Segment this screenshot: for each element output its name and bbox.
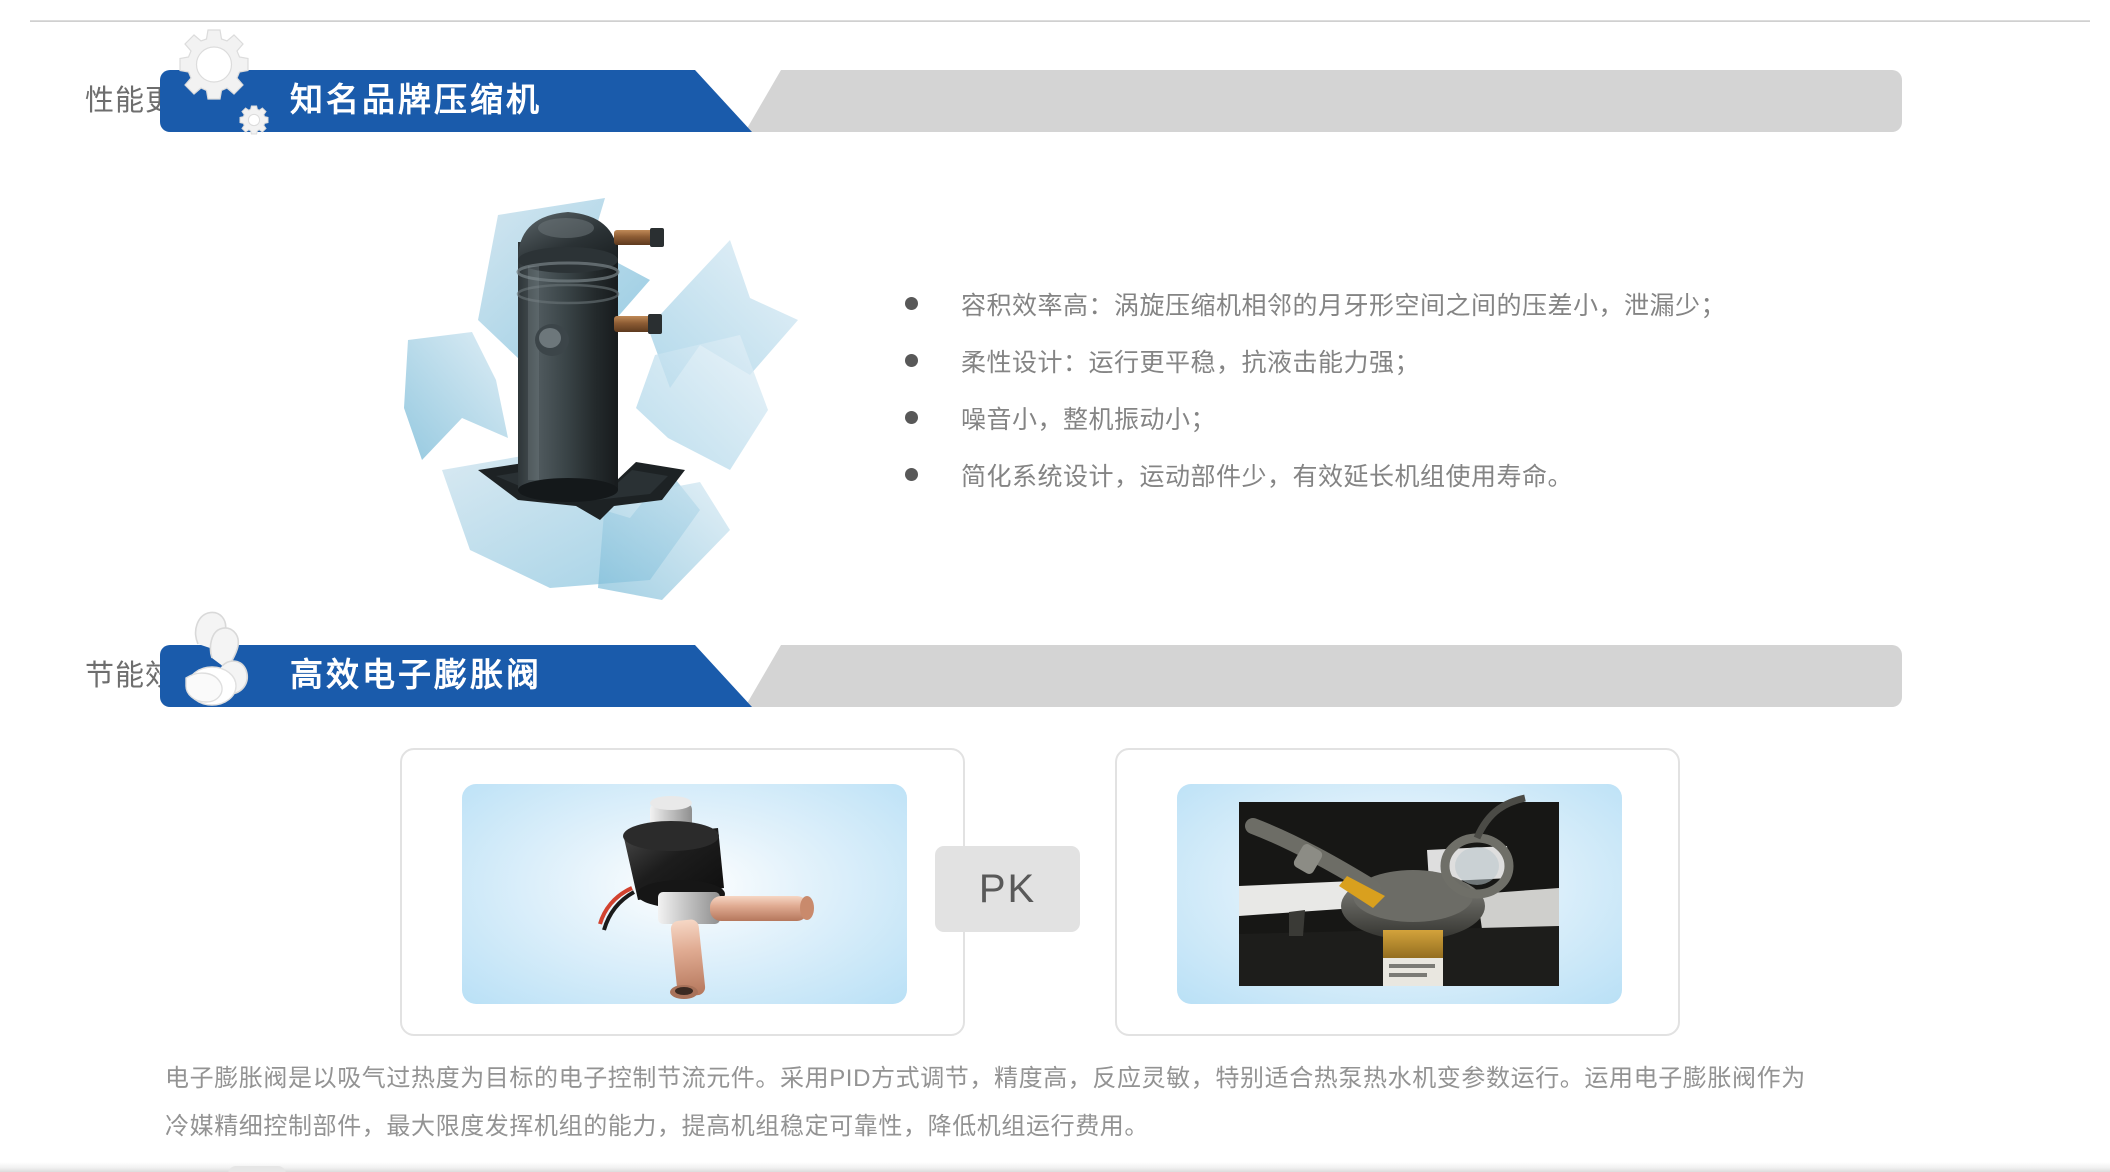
electronic-expansion-valve-photo: [462, 784, 907, 1004]
hand-touch-icon: [168, 600, 268, 710]
bullet-dot-icon: [905, 411, 918, 424]
section-banner-compressor: 性能更卓越、能效更持久！ 知名品牌压缩机: [0, 70, 1910, 132]
description-line: 冷媒精细控制部件，最大限度发挥机组的能力，提高机组稳定可靠性，降低机组运行费用。: [165, 1103, 1965, 1151]
list-item: 噪音小，整机振动小；: [905, 389, 2005, 446]
list-item: 容积效率高：涡旋压缩机相邻的月牙形空间之间的压差小，泄漏少；: [905, 275, 2005, 332]
section-title-expansion-valve: 高效电子膨胀阀: [290, 645, 542, 707]
bullet-dot-icon: [905, 297, 918, 310]
description-line: 电子膨胀阀是以吸气过热度为目标的电子控制节流元件。采用PID方式调节，精度高，反…: [165, 1055, 1965, 1103]
compressor-feature-list: 容积效率高：涡旋压缩机相邻的月牙形空间之间的压差小，泄漏少； 柔性设计：运行更平…: [905, 275, 2005, 503]
top-divider: [30, 20, 2090, 22]
list-item: 柔性设计：运行更平稳，抗液击能力强；: [905, 332, 2005, 389]
bullet-dot-icon: [905, 354, 918, 367]
compressor-illustration: [400, 170, 800, 600]
list-item: 简化系统设计，运动部件少，有效延长机组使用寿命。: [905, 446, 2005, 503]
banner-subtitle-panel: [745, 645, 1902, 707]
product-feature-page: 性能更卓越、能效更持久！ 知名品牌压缩机: [0, 0, 2110, 1172]
list-item-label: 容积效率高：涡旋压缩机相邻的月牙形空间之间的压差小，泄漏少；: [961, 286, 1726, 322]
bottom-tab-nub: [228, 1166, 286, 1172]
bullet-dot-icon: [905, 468, 918, 481]
banner-subtitle-panel: [745, 70, 1902, 132]
thermal-expansion-valve-photo: [1177, 784, 1622, 1004]
section-banner-expansion-valve: 节能效果更显著！ 高效电子膨胀阀: [0, 645, 1910, 707]
bottom-divider: [0, 1162, 2110, 1172]
section-title-compressor: 知名品牌压缩机: [290, 70, 542, 132]
pk-badge: PK: [935, 846, 1080, 932]
list-item-label: 柔性设计：运行更平稳，抗液击能力强；: [961, 343, 1420, 379]
expansion-valve-description: 电子膨胀阀是以吸气过热度为目标的电子控制节流元件。采用PID方式调节，精度高，反…: [165, 1055, 1965, 1151]
pk-card-right[interactable]: [1115, 748, 1680, 1036]
list-item-label: 简化系统设计，运动部件少，有效延长机组使用寿命。: [961, 457, 1573, 493]
pk-card-left[interactable]: [400, 748, 965, 1036]
pk-comparison: PK: [400, 748, 1700, 1036]
gear-icon: [162, 28, 272, 138]
list-item-label: 噪音小，整机振动小；: [961, 400, 1216, 436]
